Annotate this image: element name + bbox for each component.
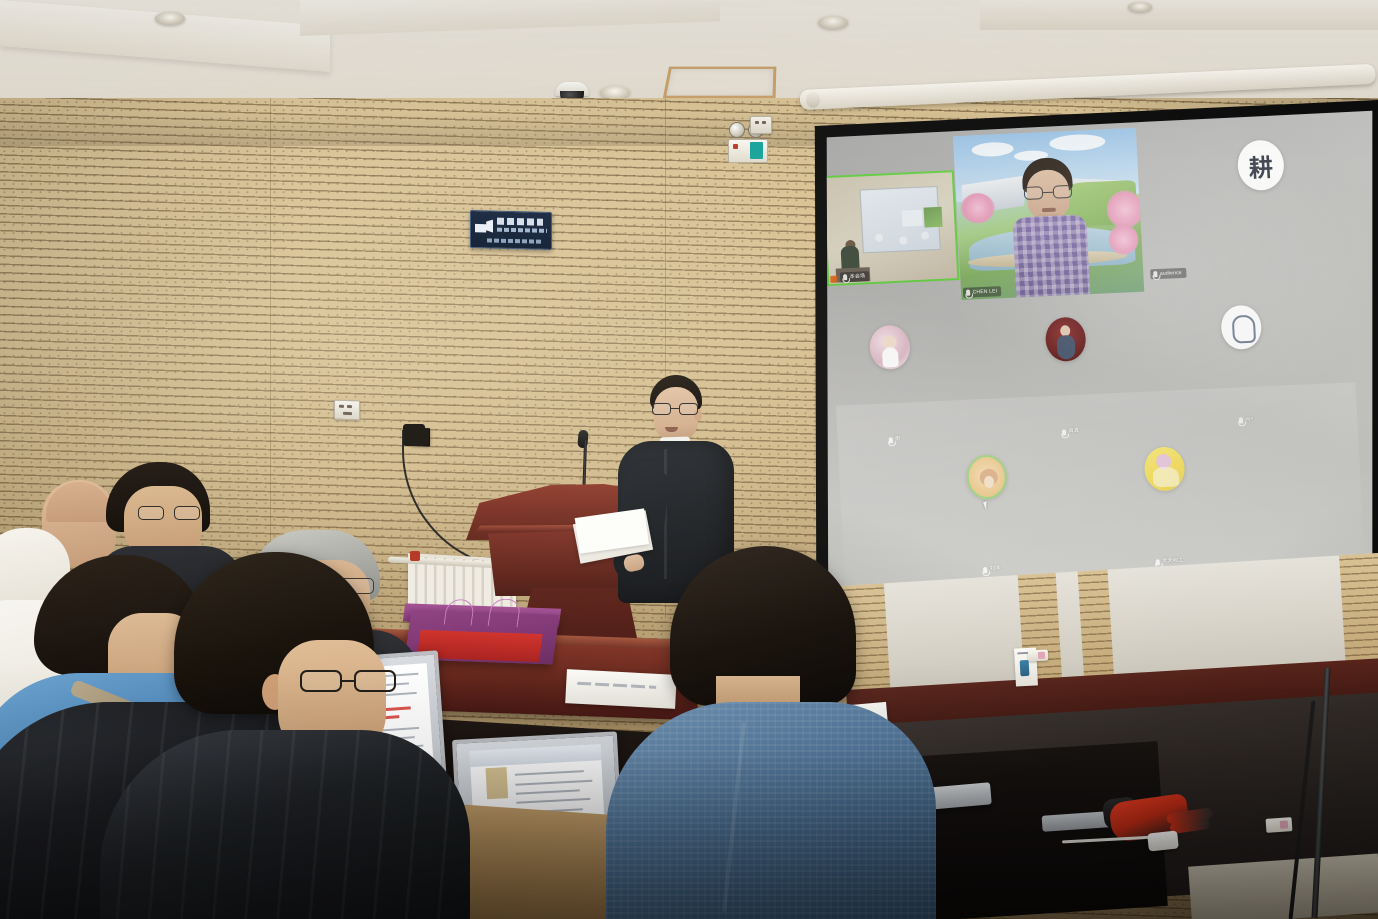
participant-name: 耐 [889,437,901,444]
eyeglasses-icon [300,670,396,692]
lecture-room-photo: 正在录制 · 耕读公开课 [0,0,1378,919]
desk-power-outlet[interactable] [1266,817,1293,833]
microphone-icon [889,437,893,443]
participant-cell-logo[interactable]: 耕 [1199,134,1326,267]
participant-name: wjn [1239,417,1254,424]
participant-cell[interactable]: wjn [1180,299,1307,432]
microphone-icon [1153,271,1157,277]
participant-cell[interactable]: 刘洋 [925,448,1052,581]
audience-member-glasses-laptop [150,552,440,919]
avatar [1220,304,1262,350]
downlight-icon [818,16,848,29]
sticky-note [486,768,509,799]
microphone-icon [1239,417,1243,423]
downlight-icon [155,12,185,25]
video-tile-self-view[interactable]: 本会场 [823,171,959,285]
participant-cell[interactable]: 天天向上 [1103,440,1230,573]
remote-participant-figure [1007,156,1092,299]
video-tile-remote-speaker[interactable]: CHEN LEI [953,128,1144,300]
participant-cell[interactable]: 真真 [1004,311,1131,444]
ceiling-beam [300,0,720,36]
microphone-icon [1062,429,1066,435]
microphone-icon [843,274,847,280]
wall-power-outlet[interactable] [750,116,772,134]
avatar-geng-character: 耕 [1237,139,1286,191]
video-surveillance-sign [470,210,552,250]
wall-power-outlet[interactable] [334,400,360,421]
recording-flag-icon [830,276,837,283]
avatar [869,324,911,370]
nested-projection-screen [860,186,941,253]
video-tile-label: CHEN LEI [963,286,1002,298]
downlight-icon [1128,2,1152,12]
participant-name: 刘洋 [983,566,1000,573]
microphone-icon [983,567,987,573]
ceiling-beam [0,0,330,72]
microphone-icon [1156,559,1160,565]
participant-name: 真真 [1062,429,1079,436]
audience-member-blue-sweater [648,546,923,919]
power-adapter [1147,830,1179,851]
avatar [966,454,1008,500]
avatar [1045,316,1087,362]
video-tile-label: 本会场 [840,271,870,282]
eyeglasses-icon [652,403,698,415]
ceiling-access-panel [663,67,777,99]
microphone-icon [966,290,970,296]
avatar [1143,446,1185,492]
video-tile-label-audience: audience [1150,268,1186,280]
participant-cell[interactable]: 耐 [829,319,956,452]
ceiling-beam [980,0,1378,30]
cctv-camera-icon [475,219,493,235]
desk-power-outlet[interactable] [1028,649,1049,661]
eyeglasses-icon [138,506,200,520]
